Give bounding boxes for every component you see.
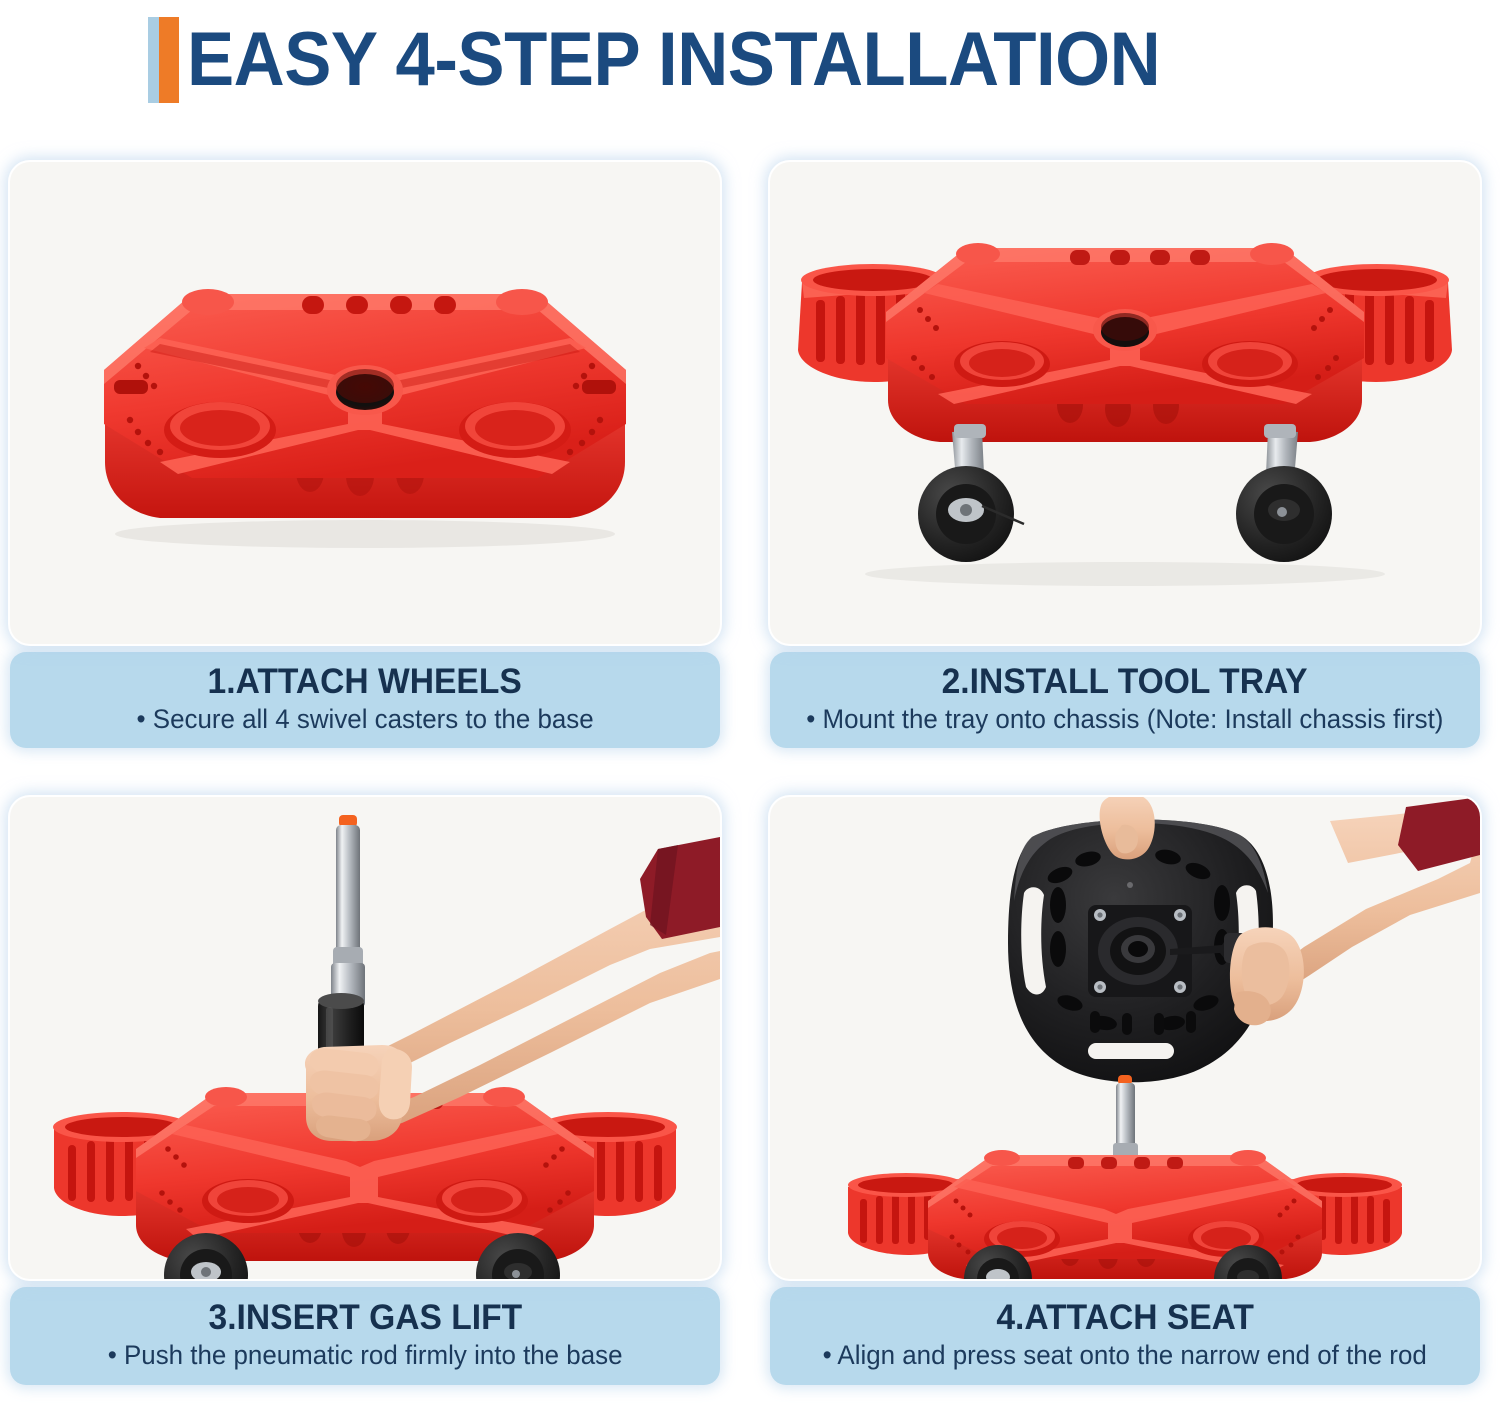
step-3-subtitle: • Push the pneumatic rod firmly into the… <box>108 1338 623 1372</box>
accent-bar-orange-icon <box>159 17 179 103</box>
tray-with-baskets-and-casters-illustration <box>770 162 1480 644</box>
step-4-subtitle: • Align and press seat onto the narrow e… <box>823 1338 1427 1372</box>
step-2-image-panel <box>770 162 1480 644</box>
step-4-image-panel <box>770 797 1480 1279</box>
step-4-caption: 4.ATTACH SEAT • Align and press seat ont… <box>770 1287 1480 1385</box>
step-card-2: 2.INSTALL TOOL TRAY • Mount the tray ont… <box>770 162 1480 777</box>
step-1-title: 1.ATTACH WHEELS <box>208 661 522 702</box>
step-card-1: 1.ATTACH WHEELS • Secure all 4 swivel ca… <box>10 162 720 777</box>
step-card-3: 3.INSERT GAS LIFT • Push the pneumatic r… <box>10 797 720 1412</box>
caster-right <box>1236 424 1332 562</box>
step-1-caption: 1.ATTACH WHEELS • Secure all 4 swivel ca… <box>10 652 720 748</box>
step-3-title: 3.INSERT GAS LIFT <box>208 1297 522 1338</box>
gripping-hand <box>305 1045 412 1141</box>
step-1-subtitle: • Secure all 4 swivel casters to the bas… <box>136 702 593 736</box>
step-4-title: 4.ATTACH SEAT <box>996 1297 1254 1338</box>
step-3-image-panel <box>10 797 720 1279</box>
page-header: EASY 4-STEP INSTALLATION <box>0 0 1500 120</box>
step-3-caption: 3.INSERT GAS LIFT • Push the pneumatic r… <box>10 1287 720 1385</box>
title-accent-bars <box>148 17 179 103</box>
caster-left <box>918 424 1024 562</box>
steps-grid: 1.ATTACH WHEELS • Secure all 4 swivel ca… <box>0 120 1500 1420</box>
hand-right <box>1230 927 1304 1025</box>
step-2-caption: 2.INSTALL TOOL TRAY • Mount the tray ont… <box>770 652 1480 748</box>
page-title: EASY 4-STEP INSTALLATION <box>187 20 1160 100</box>
accent-bar-blue-icon <box>148 17 159 103</box>
step-2-subtitle: • Mount the tray onto chassis (Note: Ins… <box>806 702 1443 736</box>
step-1-image-panel <box>10 162 720 644</box>
hands-attaching-seat-illustration <box>770 797 1480 1279</box>
hand-inserting-gas-lift-illustration <box>10 797 720 1279</box>
step-2-title: 2.INSTALL TOOL TRAY <box>942 661 1308 702</box>
step-card-4: 4.ATTACH SEAT • Align and press seat ont… <box>770 797 1480 1412</box>
red-base-tray-top-view-illustration <box>10 162 720 644</box>
installation-infographic: EASY 4-STEP INSTALLATION <box>0 0 1500 1420</box>
